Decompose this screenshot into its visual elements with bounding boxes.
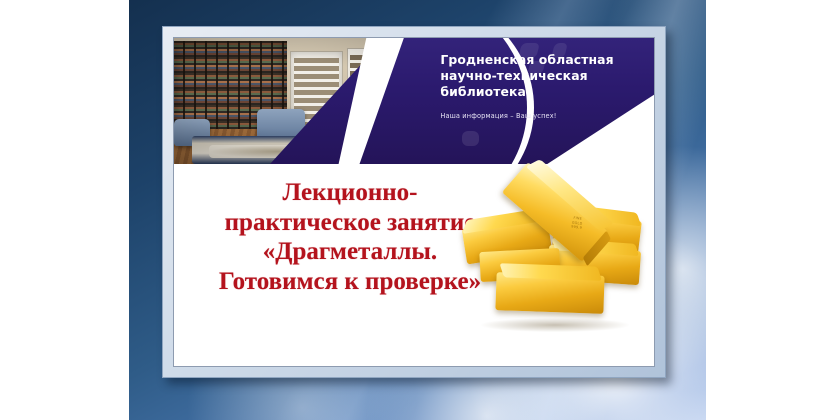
page-margin-right [706, 0, 840, 420]
header-banner: Гродненская областная научно-техническая… [174, 38, 654, 164]
slide-content: Гродненская областная научно-техническая… [173, 37, 655, 367]
page-margin-left [0, 0, 129, 420]
screenshot-canvas: Гродненская областная научно-техническая… [0, 0, 840, 420]
organization-title: Гродненская областная научно-техническая… [440, 52, 646, 100]
gold-bars-shadow [481, 318, 630, 332]
slide-frame: Гродненская областная научно-техническая… [162, 26, 666, 378]
banner-text-block: Гродненская областная научно-техническая… [440, 52, 646, 120]
gold-bar [495, 272, 604, 314]
banner-decor-square [462, 131, 479, 146]
slide-body: Лекционно- практическое занятие «Драгмет… [174, 164, 654, 366]
gold-bars-illustration: FINE GOLD 999.9 [462, 176, 648, 336]
organization-tagline: Наша информация – Ваш успех! [440, 112, 646, 120]
